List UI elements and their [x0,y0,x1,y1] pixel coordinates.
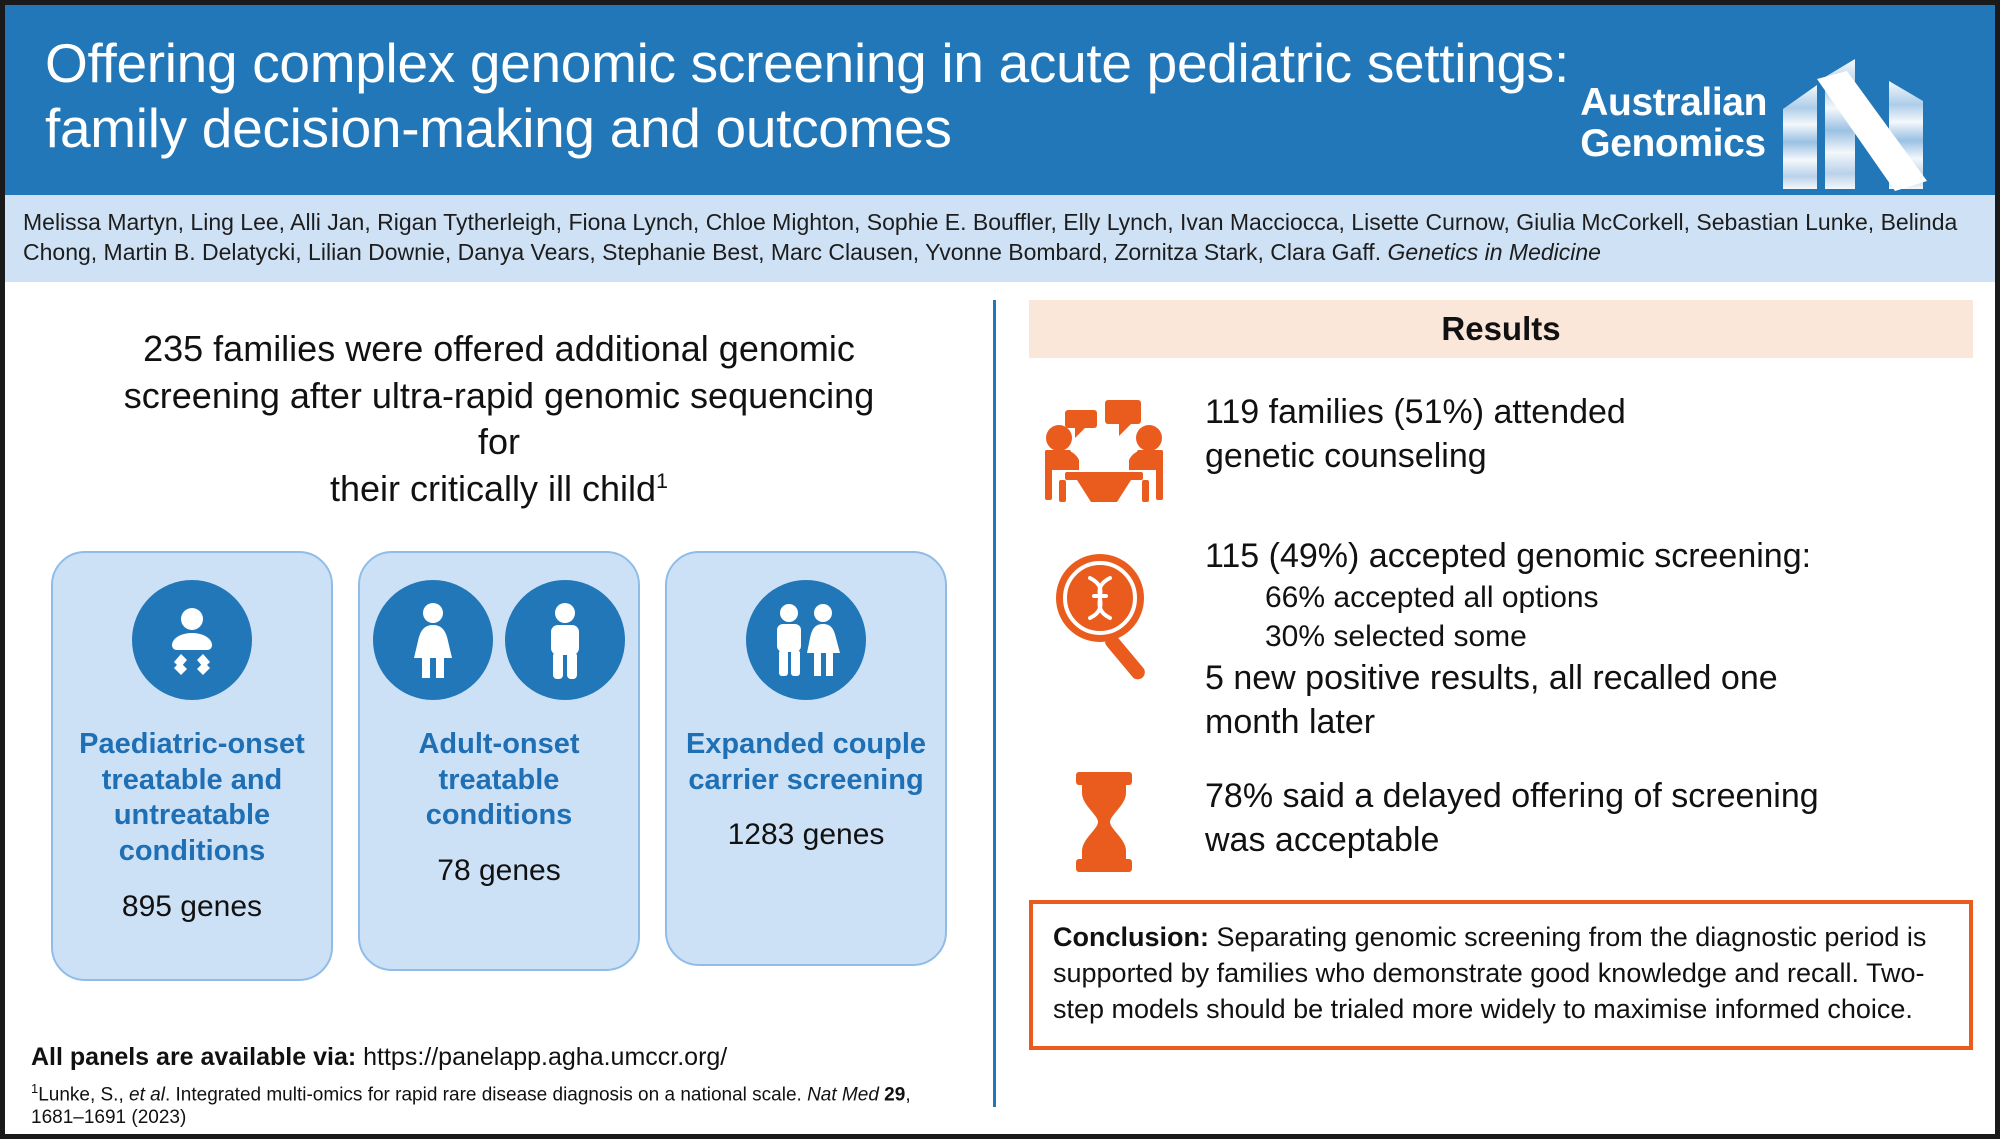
card-3-gene-count: 1283 genes [728,818,885,852]
card-expanded-carrier[interactable]: Expanded couple carrier screening 1283 g… [665,551,947,966]
result-3-text: 78% said a delayed offering of screening… [1205,770,1819,862]
card-paediatric-onset[interactable]: Paediatric-onset treatable and untreatab… [51,551,333,981]
card-3-icons [746,575,866,705]
result-2-line-3: 30% selected some [1205,617,1811,656]
results-heading: Results [1029,300,1973,358]
author-names: Melissa Martyn, Ling Lee, Alli Jan, Riga… [23,209,1957,265]
card-3-title: Expanded couple carrier screening [681,727,931,798]
australian-genomics-logo: Australian Genomics [1580,19,1955,199]
result-3-line-2: was acceptable [1205,818,1819,862]
woman-icon-circle [373,580,493,700]
card-1-gene-count: 895 genes [122,890,262,924]
result-1-icon-wrap [1029,386,1179,504]
poster-body: 235 families were offered additional gen… [5,282,1995,1139]
journal-name: Genetics in Medicine [1387,239,1601,265]
counseling-meeting-icon [1037,392,1171,504]
intro-line-1: 235 families were offered additional gen… [143,328,855,369]
right-panel: Results [993,282,1995,1139]
reference-volume: 29 [884,1085,905,1106]
brand-text: Australian Genomics [1580,83,1767,164]
woman-icon [404,600,462,680]
panels-availability: All panels are available via: https://pa… [31,1043,967,1072]
result-item-counseling: 119 families (51%) attended genetic coun… [1029,386,1973,504]
poster-header: Offering complex genomic screening in ac… [5,5,1995,195]
conclusion-label: Conclusion: [1053,922,1209,952]
result-1-line-1: 119 families (51%) attended [1205,390,1626,434]
intro-line-2: screening after ultra-rapid genomic sequ… [124,375,874,463]
reference-etal: et al [129,1085,165,1106]
card-2-gene-count: 78 genes [437,854,560,888]
result-2-line-5: month later [1205,700,1811,744]
couple-icon-circle [746,580,866,700]
result-3-icon-wrap [1029,770,1179,874]
poster-root: Offering complex genomic screening in ac… [0,0,2000,1139]
intro-footnote-marker: 1 [656,468,668,493]
card-adult-onset[interactable]: Adult-onset treatable conditions 78 gene… [358,551,640,971]
result-2-line-1: 115 (49%) accepted genomic screening: [1205,534,1811,578]
genomics-n-mark-icon [1777,49,1947,199]
baby-icon [155,603,229,677]
reference-citation: 1Lunke, S., et al. Integrated multi-omic… [31,1081,967,1128]
conclusion-box: Conclusion: Separating genomic screening… [1029,900,1973,1050]
author-list: Melissa Martyn, Ling Lee, Alli Jan, Riga… [5,195,1995,282]
result-item-delay-acceptable: 78% said a delayed offering of screening… [1029,770,1973,874]
panels-label: All panels are available via: [31,1043,356,1071]
page-title: Offering complex genomic screening in ac… [45,19,1575,161]
couple-icon [763,600,849,680]
panels-url[interactable]: https://panelapp.agha.umccr.org/ [363,1043,727,1071]
card-1-icons [132,575,252,705]
brand-line-2: Genomics [1580,124,1767,165]
result-1-line-2: genetic counseling [1205,434,1626,478]
man-icon-circle [505,580,625,700]
card-1-title: Paediatric-onset treatable and untreatab… [67,727,317,870]
result-3-line-1: 78% said a delayed offering of screening [1205,774,1819,818]
card-2-title: Adult-onset treatable conditions [374,727,624,834]
brand-line-1: Australian [1580,83,1767,124]
dna-magnifier-icon [1044,550,1164,680]
result-item-screening: 115 (49%) accepted genomic screening: 66… [1029,530,1973,745]
reference-journal: Nat Med [807,1085,884,1106]
result-2-text: 115 (49%) accepted genomic screening: 66… [1205,530,1811,745]
reference-body: . Integrated multi-omics for rapid rare … [165,1085,807,1106]
reference-author: Lunke, S., [38,1085,129,1106]
result-2-line-4: 5 new positive results, all recalled one [1205,656,1811,700]
intro-line-3: their critically ill child [330,468,656,509]
intro-statement: 235 families were offered additional gen… [99,326,899,513]
result-2-line-2: 66% accepted all options [1205,578,1811,617]
card-2-icons [373,575,625,705]
left-footer: All panels are available via: https://pa… [19,1043,979,1138]
result-2-icon-wrap [1029,530,1179,680]
hourglass-icon [1068,770,1140,874]
left-panel: 235 families were offered additional gen… [5,282,993,1139]
gene-panel-cards: Paediatric-onset treatable and untreatab… [19,551,979,981]
man-icon [540,600,590,680]
result-1-text: 119 families (51%) attended genetic coun… [1205,386,1626,478]
baby-icon-circle [132,580,252,700]
